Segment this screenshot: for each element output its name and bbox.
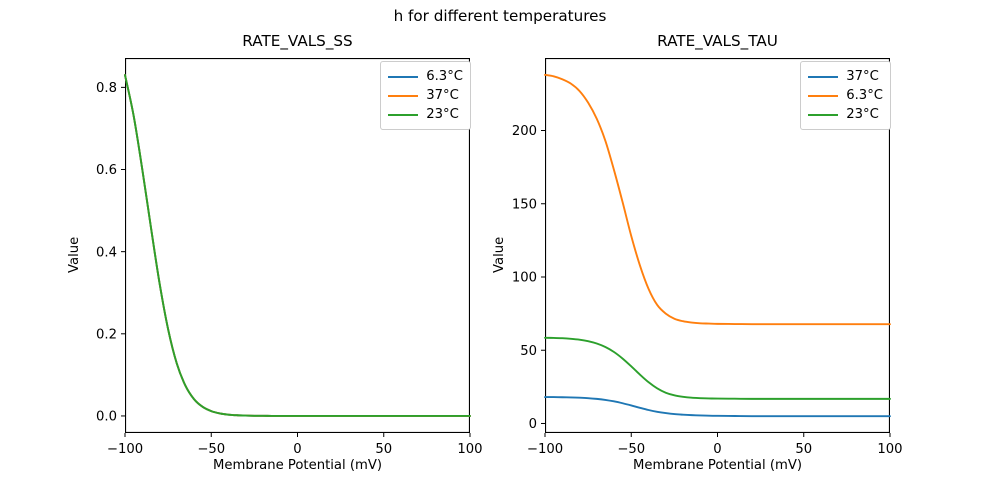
legend-item: 6.3°C [808,86,883,105]
legend-label: 23°C [426,107,459,122]
legend-item: 23°C [388,105,463,124]
series-line-37°C [545,397,890,416]
svg-text:100: 100 [877,442,902,457]
axes-title-left: RATE_VALS_SS [125,32,470,50]
axes-rate-vals-ss: RATE_VALS_SS −100−500501000.00.20.40.60.… [125,58,470,433]
svg-text:50: 50 [520,344,537,359]
svg-text:0.2: 0.2 [96,327,117,342]
figure-suptitle: h for different temperatures [0,6,1000,26]
legend-label: 23°C [846,107,879,122]
xlabel-right: Membrane Potential (mV) [545,458,890,473]
svg-text:0: 0 [529,417,537,432]
legend-right[interactable]: 37°C 6.3°C 23°C [800,61,891,130]
svg-text:50: 50 [795,442,812,457]
legend-item: 23°C [808,105,883,124]
legend-left[interactable]: 6.3°C 37°C 23°C [380,61,471,130]
ylabel-left: Value [67,237,82,273]
svg-text:150: 150 [512,197,537,212]
legend-swatch-icon [388,76,418,78]
legend-label: 6.3°C [846,88,883,103]
legend-swatch-icon [808,114,838,116]
legend-item: 6.3°C [388,67,463,86]
axes-title-right: RATE_VALS_TAU [545,32,890,50]
legend-swatch-icon [808,76,838,78]
svg-text:−100: −100 [107,442,143,457]
legend-item: 37°C [388,86,463,105]
series-line-23°C [545,338,890,399]
svg-text:100: 100 [512,271,537,286]
ylabel-right: Value [492,237,507,273]
svg-text:−100: −100 [527,442,563,457]
svg-text:200: 200 [512,124,537,139]
svg-text:0.0: 0.0 [96,410,117,425]
xlabel-left: Membrane Potential (mV) [125,458,470,473]
svg-text:0.8: 0.8 [96,81,117,96]
svg-text:0: 0 [293,442,301,457]
svg-text:0: 0 [713,442,721,457]
svg-text:50: 50 [375,442,392,457]
svg-text:0.6: 0.6 [96,163,117,178]
legend-label: 37°C [426,88,459,103]
svg-text:−50: −50 [197,442,225,457]
legend-item: 37°C [808,67,883,86]
svg-text:−50: −50 [617,442,645,457]
matplotlib-figure: h for different temperatures RATE_VALS_S… [0,0,1000,500]
svg-text:0.4: 0.4 [96,245,117,260]
legend-swatch-icon [388,95,418,97]
legend-label: 6.3°C [426,69,463,84]
axes-rate-vals-tau: RATE_VALS_TAU −100−50050100050100150200 … [545,58,890,433]
legend-label: 37°C [846,69,879,84]
legend-swatch-icon [388,114,418,116]
legend-swatch-icon [808,95,838,97]
svg-text:100: 100 [457,442,482,457]
